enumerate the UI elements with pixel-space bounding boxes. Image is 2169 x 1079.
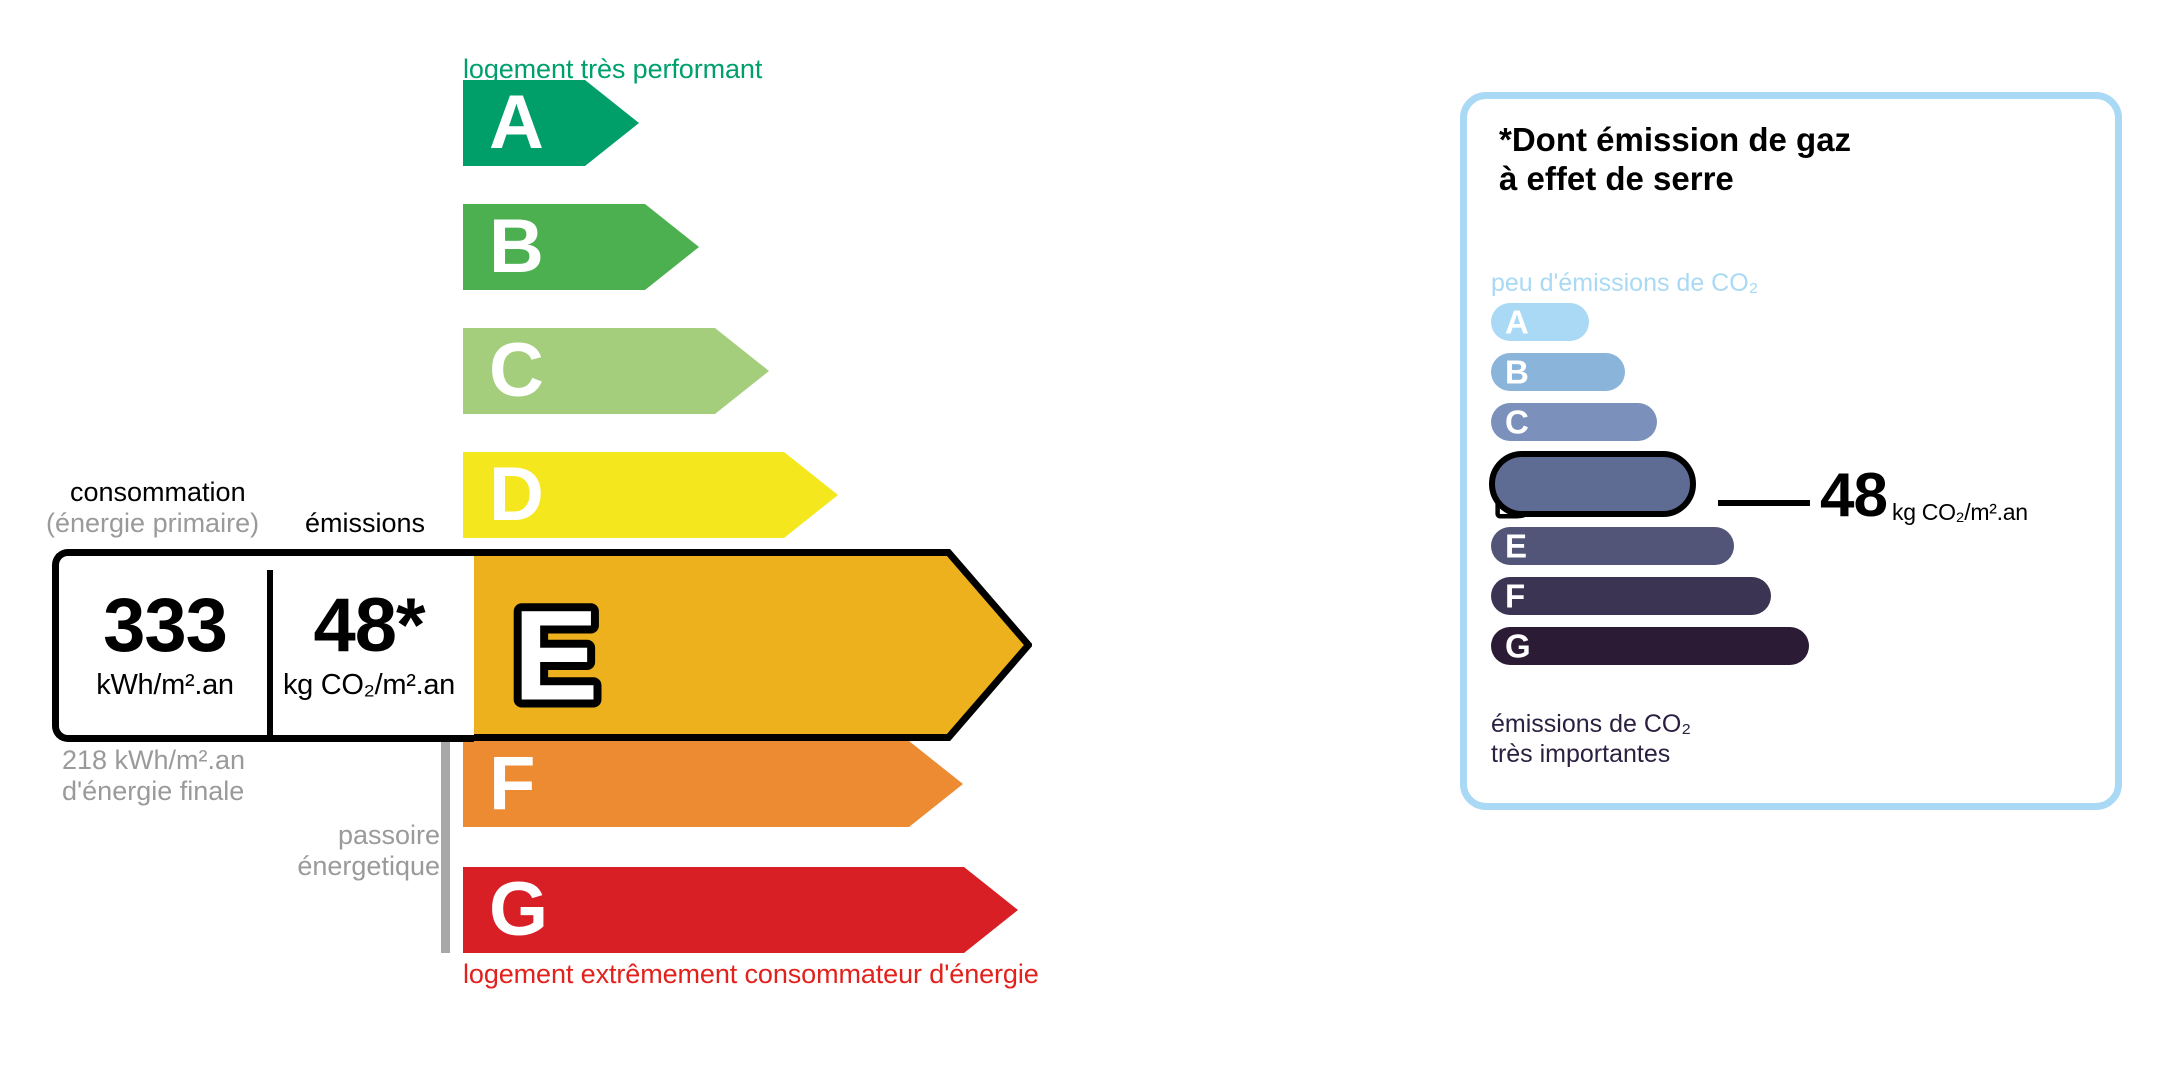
co2-bar-fill-d [1489,451,1696,517]
svg-text:E: E [513,584,598,725]
co2-callout-unit: kg CO₂/m².an [1892,499,2028,526]
final-energy-label: 218 kWh/m².an d'énergie finale [62,745,245,808]
emission-value: 48* [313,589,424,663]
consumption-unit: kWh/m².an [96,669,234,702]
energy-bar-c: C [463,328,769,414]
co2-bar-fill-g [1491,627,1809,665]
passoire-line1: passoire [290,820,440,851]
energy-performance-panel: logement très performant ABCDEFG 333 kWh… [0,0,1400,1079]
co2-bottom-line1: émissions de CO₂ [1491,709,1691,739]
co2-bottom-caption: émissions de CO₂ très importantes [1491,709,1691,769]
energy-bar-b: B [463,204,699,290]
co2-bar-letter-a: A [1505,306,1529,339]
emissions-label: émissions [305,508,425,539]
co2-bar-letter-c: C [1505,406,1529,439]
co2-bar-g: G [1491,627,1809,665]
final-energy-line2: d'énergie finale [62,776,245,807]
final-energy-line1: 218 kWh/m².an [62,745,245,776]
co2-bar-letter-f: F [1505,580,1525,613]
co2-bar-a: A [1491,303,1589,341]
energie-primaire-label: (énergie primaire) [46,508,259,539]
energy-bar-f: F [463,741,963,827]
co2-bar-c: C [1491,403,1657,441]
passoire-indicator-bar [441,741,450,953]
consommation-label: consommation [70,477,246,508]
energy-bar-g: G [463,867,1018,953]
co2-bar-d: D [1489,451,1696,517]
co2-bar-letter-e: E [1505,530,1527,563]
co2-emission-panel: *Dont émission de gaz à effet de serre p… [1460,92,2122,810]
co2-top-caption: peu d'émissions de CO₂ [1491,269,1758,298]
energy-bar-e: E [463,549,1032,741]
energy-bar-a: A [463,80,639,166]
co2-callout-value: 48 [1820,465,1887,527]
co2-bar-fill-f [1491,577,1771,615]
energy-bar-d: D [463,452,838,538]
passoire-line2: énergetique [290,851,440,882]
co2-bar-f: F [1491,577,1771,615]
dpe-diagram: logement très performant ABCDEFG 333 kWh… [0,0,2169,1079]
co2-bottom-line2: très importantes [1491,739,1691,769]
energy-bottom-caption: logement extrêmement consommateur d'éner… [463,959,1039,990]
consumption-cell: 333 kWh/m².an [65,556,265,735]
co2-leader-line [1718,500,1810,506]
co2-bar-letter-g: G [1505,630,1531,663]
co2-title-line1: *Dont émission de gaz [1499,121,1851,160]
consumption-value: 333 [103,589,227,663]
co2-bar-e: E [1491,527,1734,565]
co2-bar-letter-b: B [1505,356,1529,389]
co2-bar-fill-e [1491,527,1734,565]
consumption-value-box: 333 kWh/m².an 48* kg CO₂/m².an [52,549,474,742]
co2-title-line2: à effet de serre [1499,160,1851,199]
co2-panel-title: *Dont émission de gaz à effet de serre [1499,121,1851,198]
emission-unit: kg CO₂/m².an [283,669,455,702]
emission-cell: 48* kg CO₂/m².an [271,556,467,735]
co2-bar-b: B [1491,353,1625,391]
passoire-energetique-label: passoire énergetique [290,820,440,883]
